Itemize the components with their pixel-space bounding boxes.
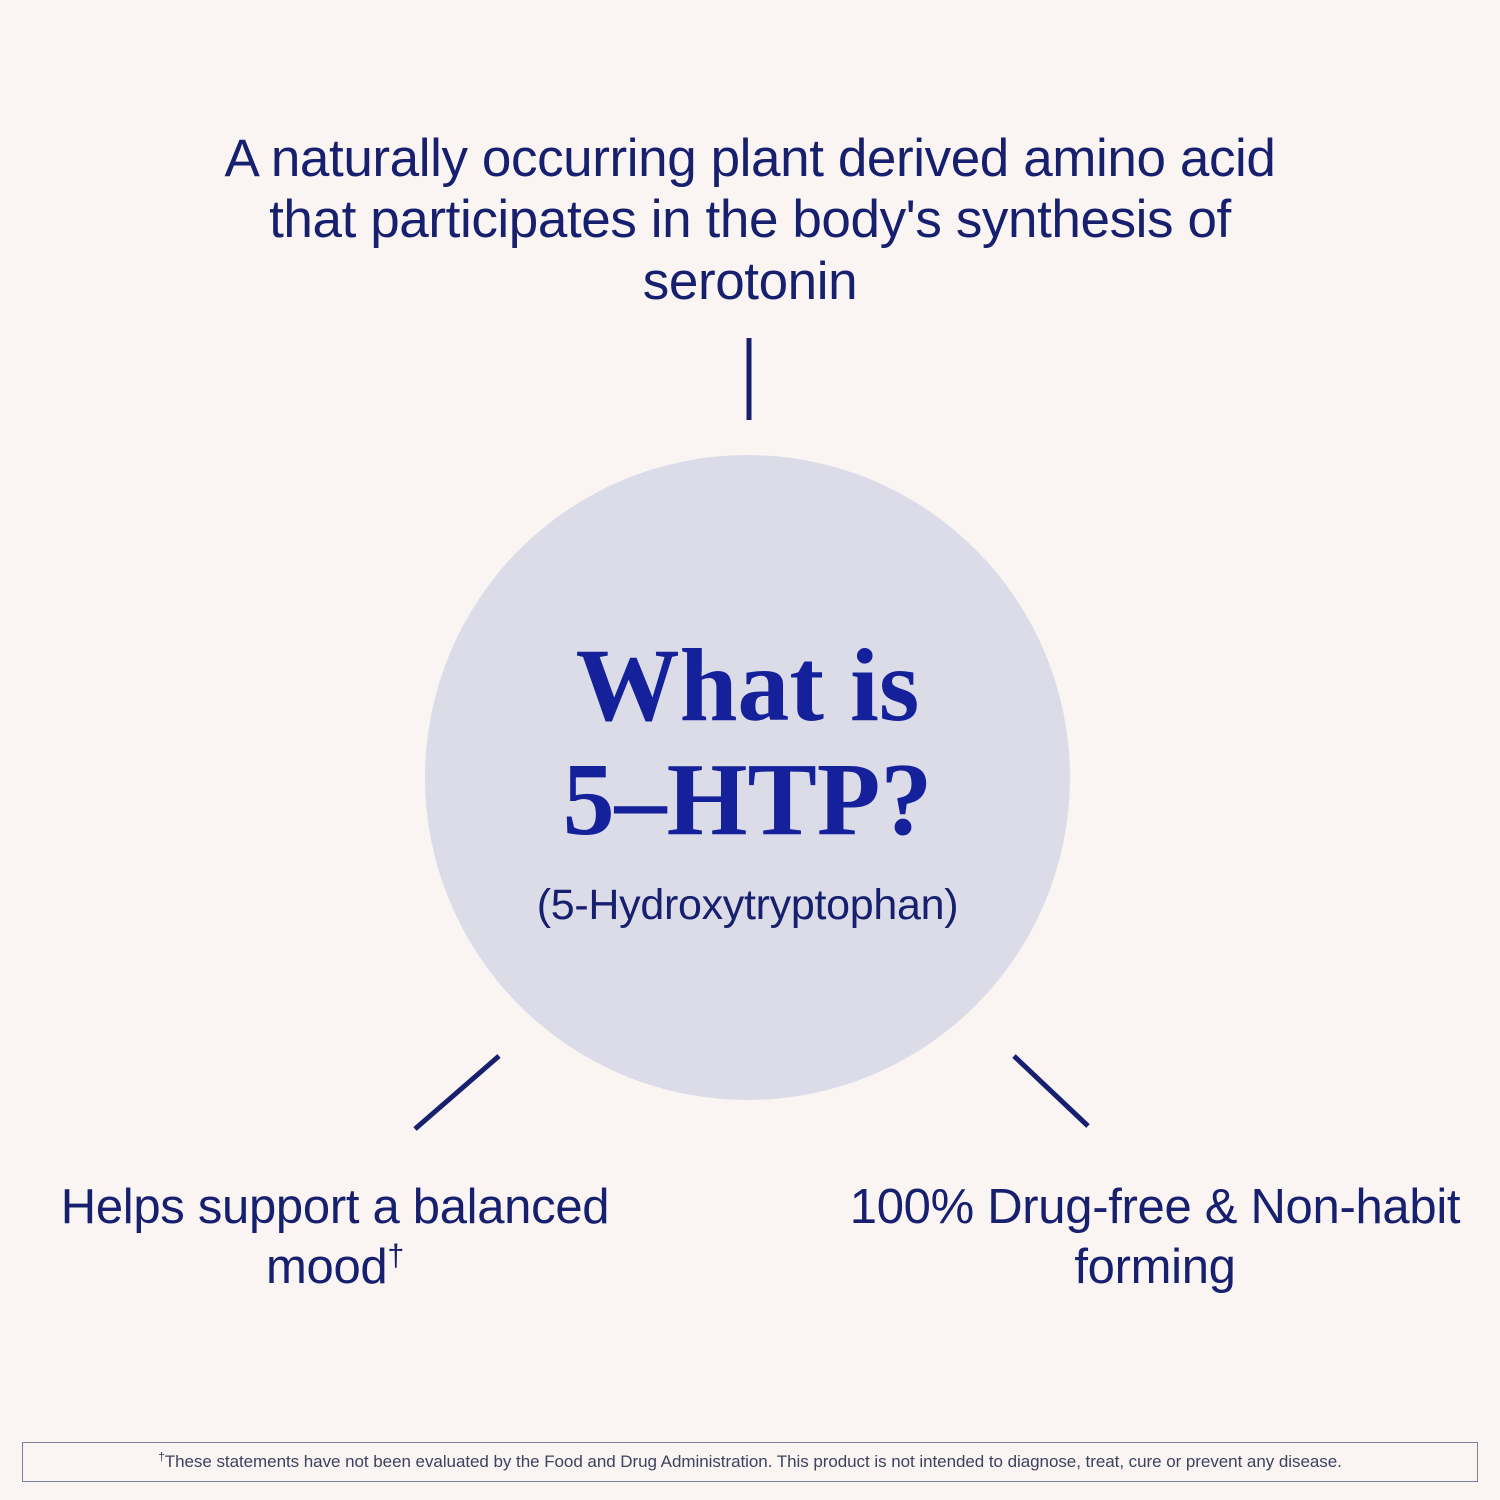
footer-disclaimer-text: †These statements have not been evaluate… xyxy=(158,1452,1342,1472)
top-headline: A naturally occurring plant derived amin… xyxy=(190,128,1310,312)
infographic-canvas: A naturally occurring plant derived amin… xyxy=(0,0,1500,1500)
center-title: What is 5–HTP? xyxy=(563,634,933,852)
benefit-drug-free-label: 100% Drug-free & Non-habit forming xyxy=(850,1180,1460,1294)
footer-disclaimer-body: These statements have not been evaluated… xyxy=(165,1452,1342,1471)
benefit-balanced-mood: Helps support a balanced mood† xyxy=(40,1178,630,1298)
connector-line-bottom-left xyxy=(415,1056,499,1129)
footer-disclaimer-box: †These statements have not been evaluate… xyxy=(22,1442,1478,1482)
benefit-balanced-mood-label: Helps support a balanced mood xyxy=(61,1180,610,1294)
center-subtitle: (5-Hydroxytryptophan) xyxy=(537,882,958,929)
center-title-line-2: 5–HTP? xyxy=(563,748,933,852)
connector-line-bottom-right xyxy=(1014,1056,1088,1126)
center-title-line-1: What is xyxy=(576,628,920,743)
benefit-balanced-mood-footnote-marker: † xyxy=(387,1238,404,1272)
footer-dagger-marker: † xyxy=(158,1449,165,1463)
center-circle: What is 5–HTP? (5-Hydroxytryptophan) xyxy=(425,455,1070,1100)
benefit-drug-free: 100% Drug-free & Non-habit forming xyxy=(845,1178,1465,1298)
